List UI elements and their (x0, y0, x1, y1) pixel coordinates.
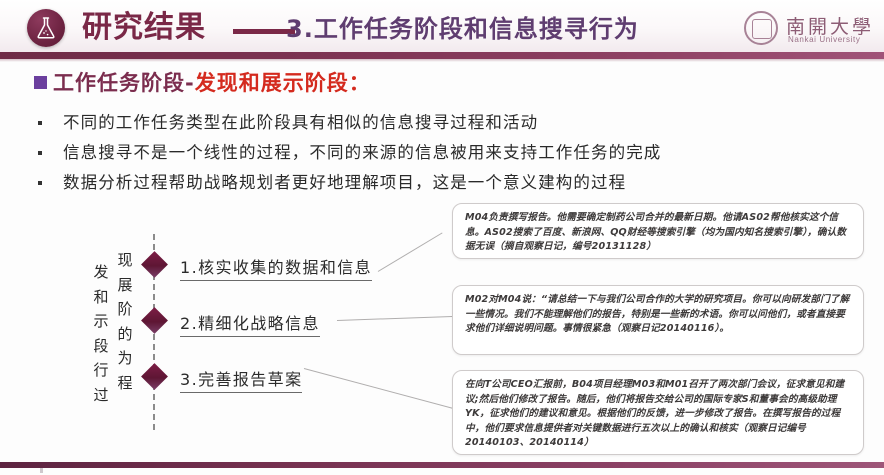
list-item: 数据分析过程帮助战略规划者更好地理解项目，这是一个意义建构的过程 (38, 168, 838, 198)
footer-divider-rule (0, 462, 884, 468)
v-char: 程 (114, 371, 136, 396)
v-char: 为 (114, 346, 136, 371)
diamond-icon (141, 363, 168, 390)
vertical-label-column-left: 发和示段行过 (90, 260, 112, 407)
page-subtitle-heading: 3.工作任务阶段和信息搜寻行为 (286, 13, 639, 45)
v-char: 和 (90, 285, 112, 310)
callout-box-3: 在向T公司CEO汇报前，B04项目经理M03和M01召开了两次部门会议，征求意见… (452, 370, 864, 455)
v-char: 发 (90, 260, 112, 285)
bullet-list: 不同的工作任务类型在此阶段具有相似的信息搜寻过程和活动 信息搜寻不是一个线性的过… (38, 108, 838, 198)
bullet-dot-icon (38, 151, 42, 155)
subtitle-part-red: 发现和展示阶段： (195, 71, 371, 95)
subtitle-part-purple: 工作任务阶段- (53, 71, 195, 95)
university-logo: 南開大學 Nankai University (744, 10, 870, 48)
bullet-text: 数据分析过程帮助战略规划者更好地理解项目，这是一个意义建构的过程 (63, 173, 626, 192)
v-char: 的 (114, 322, 136, 347)
diamond-icon (141, 251, 168, 278)
bullet-dot-icon (38, 181, 42, 185)
v-char: 阶 (114, 297, 136, 322)
page-title: 研究结果 (82, 8, 206, 48)
footer-tick-mark (40, 468, 43, 473)
header-divider-shadow (0, 59, 884, 62)
v-char: 示 (90, 309, 112, 334)
nankai-seal-icon (744, 11, 778, 45)
process-step-3[interactable]: 3.完善报告草案 (180, 366, 302, 393)
callout-box-1: M04负责撰写报告。他需要确定制药公司合并的最新日期。他请AS02帮他核实这个信… (452, 203, 864, 259)
logo-name-en: Nankai University (788, 35, 860, 44)
list-item: 信息搜寻不是一个线性的过程，不同的来源的信息被用来支持工作任务的完成 (38, 138, 838, 168)
flask-glyph (35, 16, 57, 40)
bullet-text: 不同的工作任务类型在此阶段具有相似的信息搜寻过程和活动 (63, 113, 538, 132)
v-char: 现 (114, 248, 136, 273)
process-step-2[interactable]: 2.精细化战略信息 (180, 310, 320, 337)
connector-line-step1 (378, 232, 443, 271)
v-char: 过 (90, 383, 112, 408)
bullet-dot-icon (38, 121, 42, 125)
v-char: 行 (90, 358, 112, 383)
connector-line-step2 (337, 316, 456, 321)
v-char: 段 (90, 334, 112, 359)
flask-icon (27, 9, 65, 47)
list-item: 不同的工作任务类型在此阶段具有相似的信息搜寻过程和活动 (38, 108, 838, 138)
process-vertical-label: 现展阶的为程 发和示段行过 (88, 248, 144, 398)
section-subtitle: 工作任务阶段-发现和展示阶段： (34, 69, 371, 97)
header-divider-rule (0, 52, 884, 59)
square-bullet-icon (34, 76, 47, 89)
callout-box-2: M02对M04说：“请总结一下与我们公司合作的大学的研究项目。你可以向研发部门了… (452, 285, 864, 355)
diamond-icon (141, 307, 168, 334)
vertical-label-column-right: 现展阶的为程 (114, 248, 136, 395)
v-char: 展 (114, 273, 136, 298)
connector-line-step3 (304, 368, 459, 410)
slide-root: 研究结果 3.工作任务阶段和信息搜寻行为 南開大學 Nankai Univers… (0, 0, 884, 475)
bullet-text: 信息搜寻不是一个线性的过程，不同的来源的信息被用来支持工作任务的完成 (63, 143, 661, 162)
process-step-1[interactable]: 1.核实收集的数据和信息 (180, 254, 372, 281)
